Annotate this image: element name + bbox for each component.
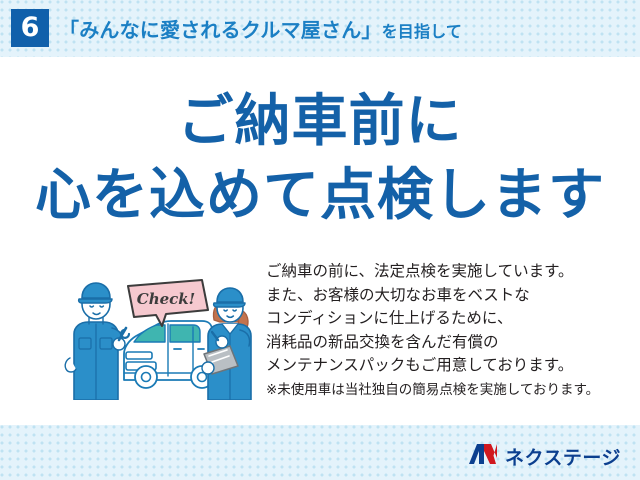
section-number-badge: 6 xyxy=(11,9,49,47)
body-line-4: 消耗品の新品交換を含んだ有償の xyxy=(266,331,626,355)
body-line-2: また、お客様の大切なお車をベストな xyxy=(266,284,626,308)
nextage-n-mark-icon xyxy=(468,442,498,471)
header-title: 「みんなに愛されるクルマ屋さん」を目指して xyxy=(59,14,462,43)
header-title-tail: を目指して xyxy=(382,24,463,41)
nextage-logo-text: ネクステージ xyxy=(505,443,621,470)
body-line-5: メンテナンスパックもご用意しております。 xyxy=(266,354,626,378)
headline-line-2: 心を込めて点検します xyxy=(0,166,640,226)
body-copy: ご納車の前に、法定点検を実施しています。 また、お客様の大切なお車をベストな コ… xyxy=(266,260,626,401)
body-line-1: ご納車の前に、法定点検を実施しています。 xyxy=(266,260,626,284)
mechanics-inspection-illustration: Check! xyxy=(62,272,260,400)
body-line-3: コンディションに仕上げるために、 xyxy=(266,307,626,331)
headline-line-1: ご納車前に xyxy=(0,92,640,152)
nextage-logo: ネクステージ xyxy=(468,440,628,472)
check-bubble-label: Check! xyxy=(137,290,196,308)
body-note: ※未使用車は当社独自の簡易点検を実施しております。 xyxy=(266,379,626,401)
mechanic-with-clipboard-icon xyxy=(202,288,251,400)
white-van-icon xyxy=(124,321,213,388)
header-title-quoted: 「みんなに愛されるクルマ屋さん」 xyxy=(59,20,382,42)
mechanic-with-wrench-icon xyxy=(65,283,129,400)
promotional-banner: 6 「みんなに愛されるクルマ屋さん」を目指して ご納車前に 心を込めて点検します… xyxy=(0,0,640,480)
